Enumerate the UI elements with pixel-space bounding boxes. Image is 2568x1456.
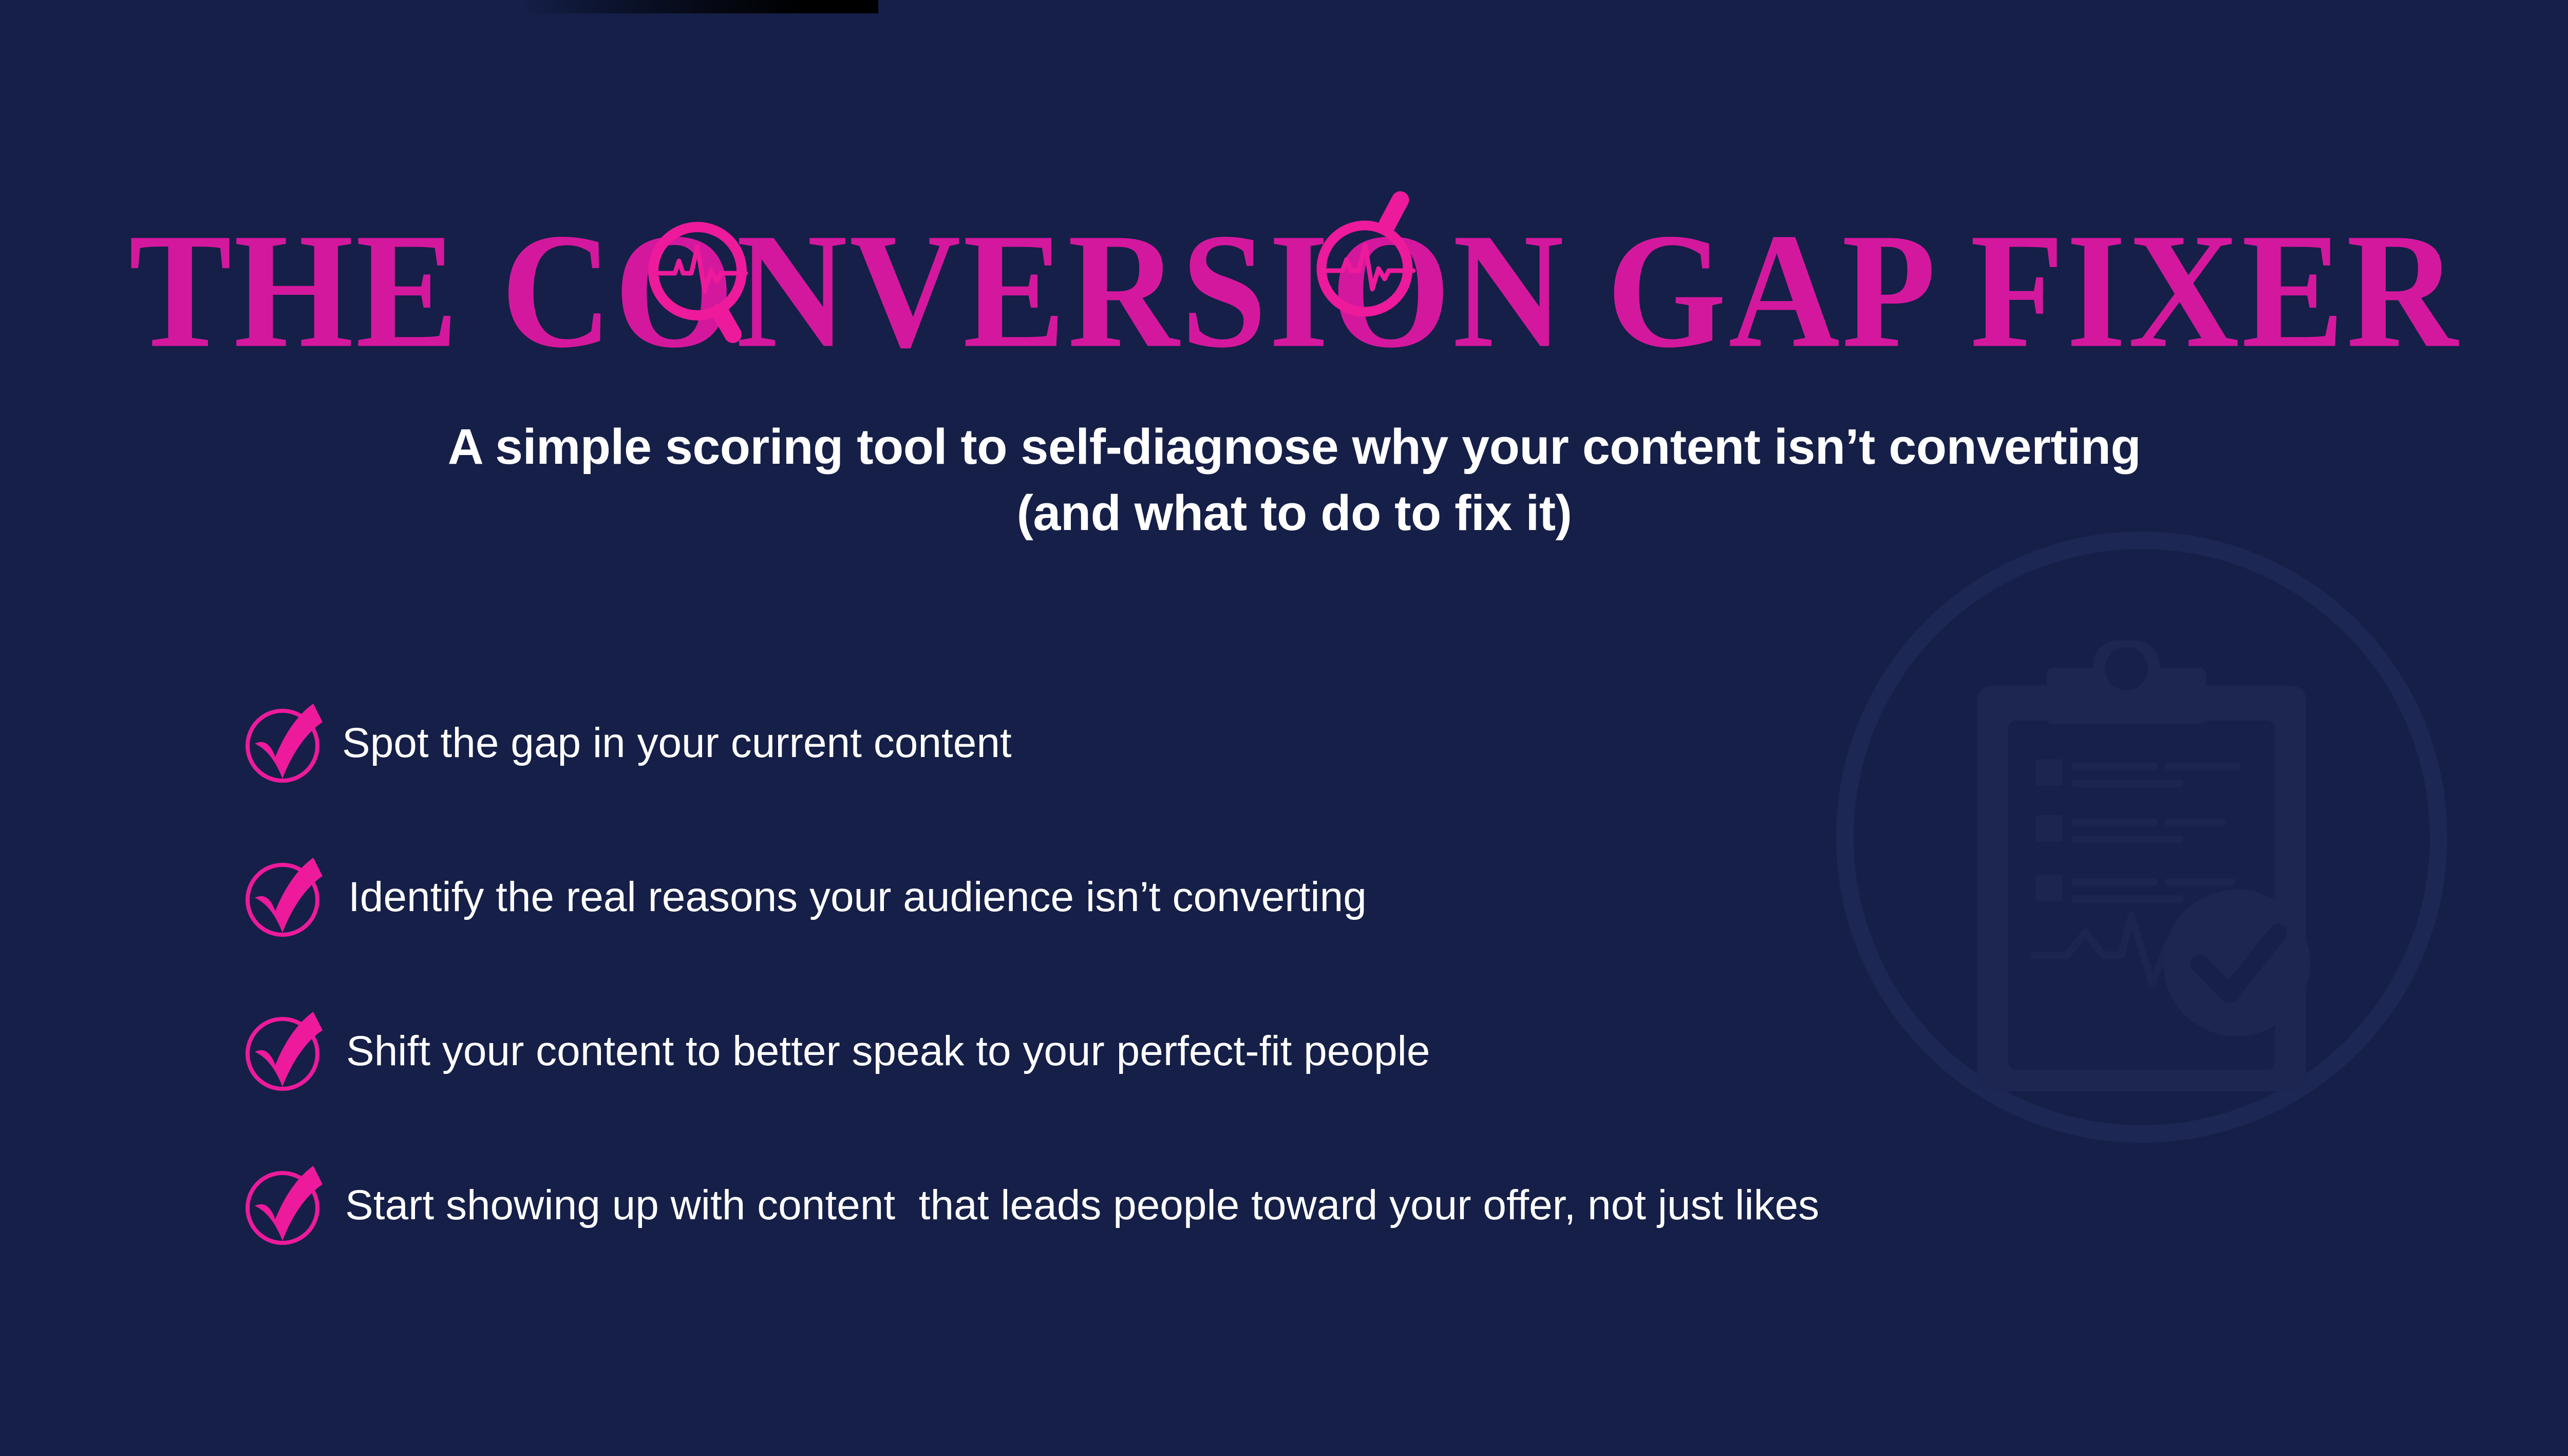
top-black-strip	[524, 0, 878, 13]
check-circle-icon	[241, 855, 328, 941]
check-circle-icon	[241, 1163, 328, 1249]
benefits-list: Spot the gap in your current content Ide…	[241, 696, 2347, 1253]
subtitle-line-1: A simple scoring tool to self-diagnose w…	[0, 413, 2568, 480]
list-item-label: Identify the real reasons your audience …	[348, 874, 1367, 920]
list-item: Identify the real reasons your audience …	[241, 850, 2347, 945]
check-circle-icon	[241, 701, 328, 787]
list-item-label: Shift your content to better speak to yo…	[346, 1028, 1430, 1074]
list-item-label: Start showing up with content that leads…	[345, 1182, 1819, 1228]
page-subtitle: A simple scoring tool to self-diagnose w…	[0, 413, 2568, 546]
page-title: THE CONVERSION GAP FIXER	[129, 208, 2460, 373]
subtitle-line-2: (and what to do to fix it)	[0, 480, 2568, 546]
list-item-label: Spot the gap in your current content	[342, 720, 1012, 766]
page-title-wrapper: THE CONVERSION GAP FIXER	[0, 208, 2568, 362]
slide-canvas: THE CONVERSION GAP FIXER A simple scorin…	[0, 0, 2568, 1456]
check-circle-icon	[241, 1009, 328, 1095]
list-item: Start showing up with content that leads…	[241, 1158, 2347, 1253]
list-item: Spot the gap in your current content	[241, 696, 2347, 791]
list-item: Shift your content to better speak to yo…	[241, 1004, 2347, 1099]
